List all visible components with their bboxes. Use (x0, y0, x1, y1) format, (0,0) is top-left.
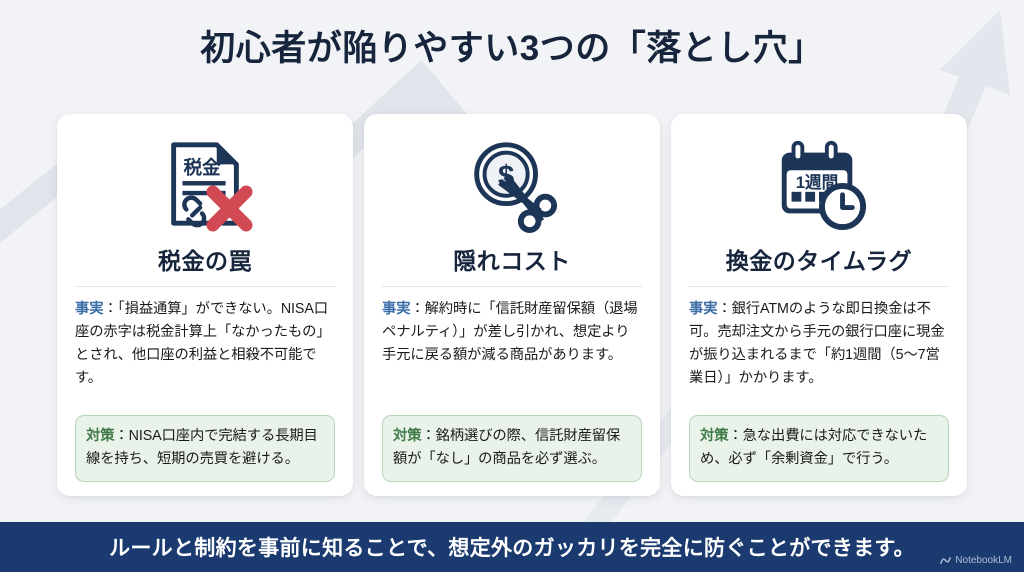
action-label: 対策 (700, 428, 728, 444)
pitfall-card-hidden-cost[interactable]: $ 隠れコスト 事実：解約時に「信託財産留保額（退場ペナルティ）」が差し引かれ、… (364, 114, 660, 496)
card-action-box: 対策：急な出費には対応できないため、必ず「余剰資金」で行う。 (689, 415, 949, 482)
fact-label: 事実 (382, 301, 410, 317)
card-action-box: 対策：NISA口座内で完結する長期目線を持ち、短期の売買を避ける。 (75, 415, 335, 482)
calendar-clock-icon: 1週間 (770, 132, 868, 236)
card-divider (75, 286, 335, 287)
page-title: 初心者が陥りやすい3つの「落とし穴」 (0, 28, 1024, 70)
banner-text: ルールと制約を事前に知ることで、想定外のガッカリを完全に防ぐことができます。 (109, 532, 915, 562)
fact-text: ：解約時に「信託財産留保額（退場ペナルティ）」が差し引かれ、想定より手元に戻る額… (382, 301, 638, 363)
card-divider (382, 286, 642, 287)
fact-text: ：「損益通算」ができない。NISA口座の赤字は税金計算上「なかったもの」とされ、… (75, 301, 331, 386)
card-title: 換金のタイムラグ (726, 242, 912, 276)
card-title: 税金の罠 (158, 242, 252, 276)
action-text: ：銘柄選びの際、信託財産留保額が「なし」の商品を必ず選ぶ。 (393, 428, 620, 467)
pitfall-card-tax[interactable]: 税金 税金の罠 事実：「損益通算」ができない。NISA口座の赤字は税金計算上「な… (57, 114, 353, 496)
card-fact: 事実：銀行ATMのような即日換金は不可。売却注文から手元の銀行口座に現金が振り込… (689, 298, 949, 391)
card-fact: 事実：解約時に「信託財産留保額（退場ペナルティ）」が差し引かれ、想定より手元に戻… (382, 298, 642, 367)
notebooklm-watermark: NotebookLM (940, 555, 1012, 566)
background-arrow-left-head (395, 70, 470, 118)
tax-document-blocked-icon: 税金 (156, 132, 254, 236)
notebooklm-logo-icon (940, 555, 951, 566)
pitfall-cards-row: 税金 税金の罠 事実：「損益通算」ができない。NISA口座の赤字は税金計算上「な… (57, 114, 967, 496)
card-fact: 事実：「損益通算」ができない。NISA口座の赤字は税金計算上「なかったもの」とさ… (75, 298, 335, 391)
card-divider (689, 286, 949, 287)
fact-text: ：銀行ATMのような即日換金は不可。売却注文から手元の銀行口座に現金が振り込まれ… (689, 301, 945, 386)
svg-text:税金: 税金 (183, 157, 221, 178)
pitfall-card-cash-lag[interactable]: 1週間 換金のタイムラグ 事実：銀行ATMのような即日換金は不可。売却注文から手… (671, 114, 967, 496)
action-label: 対策 (86, 428, 114, 444)
watermark-label: NotebookLM (955, 555, 1012, 566)
coin-scissors-icon: $ (463, 132, 561, 236)
action-text: ：急な出費には対応できないため、必ず「余剰資金」で行う。 (700, 428, 927, 467)
bottom-summary-banner: ルールと制約を事前に知ることで、想定外のガッカリを完全に防ぐことができます。 N… (0, 522, 1024, 572)
fact-label: 事実 (689, 301, 717, 317)
fact-label: 事実 (75, 301, 103, 317)
card-title: 隠れコスト (453, 242, 571, 276)
action-label: 対策 (393, 428, 421, 444)
card-action-box: 対策：銘柄選びの際、信託財産留保額が「なし」の商品を必ず選ぶ。 (382, 415, 642, 482)
action-text: ：NISA口座内で完結する長期目線を持ち、短期の売買を避ける。 (86, 428, 318, 467)
